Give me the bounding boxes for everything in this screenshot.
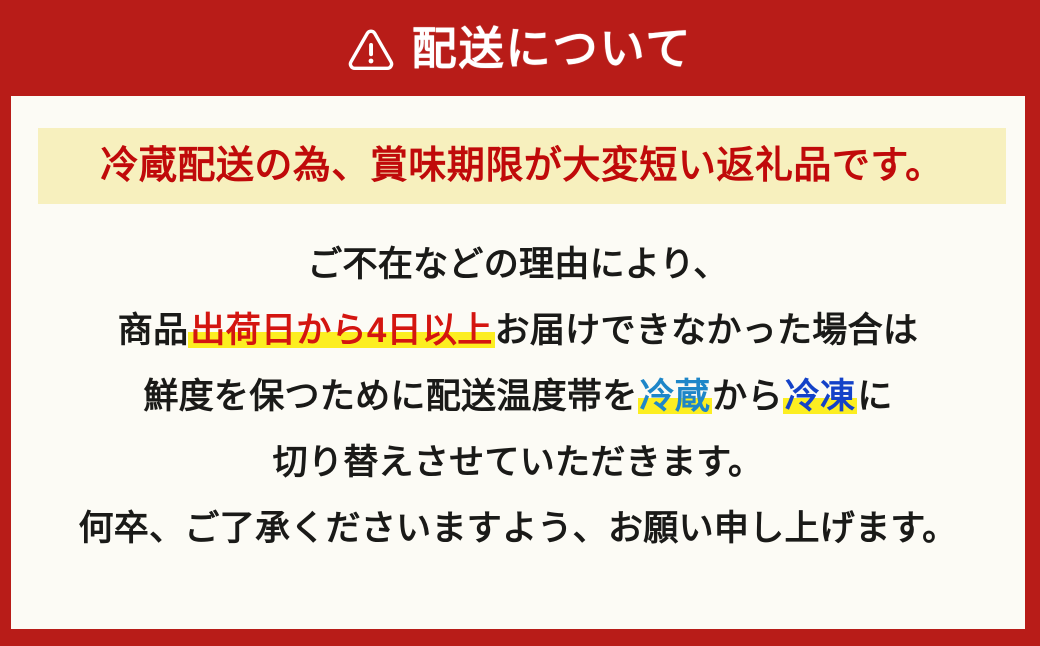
text-segment: お届けできなかった場合は [495, 313, 919, 348]
notice-line: 何卒、ご了承くださいますよう、お願い申し上げます。 [11, 495, 1025, 561]
highlight-banner-text: 冷蔵配送の為、賞味期限が大変短い返礼品です。 [100, 147, 943, 185]
shipping-notice-card: 配送について 冷蔵配送の為、賞味期限が大変短い返礼品です。 ご不在などの理由によ… [0, 0, 1040, 646]
text-segment-emphasis: 出荷日から4日以上 [188, 313, 494, 348]
text-segment: に [857, 379, 892, 414]
page-title: 配送について [412, 26, 693, 71]
warning-triangle-icon [348, 27, 394, 71]
notice-line: 鮮度を保つために配送温度帯を 冷蔵 から 冷凍 に [11, 363, 1025, 429]
text-segment: 何卒、ご了承くださいますよう、お願い申し上げます。 [78, 511, 957, 546]
notice-body-panel: 冷蔵配送の為、賞味期限が大変短い返礼品です。 ご不在などの理由により、 商品 出… [11, 96, 1025, 629]
text-segment: 鮮度を保つために配送温度帯を [143, 379, 637, 414]
highlight-banner: 冷蔵配送の為、賞味期限が大変短い返礼品です。 [38, 128, 1006, 204]
notice-line: 切り替えさせていただきます。 [11, 429, 1025, 495]
notice-header: 配送について [0, 0, 1040, 96]
text-segment: から [712, 379, 783, 414]
text-segment: ご不在などの理由により、 [307, 247, 729, 282]
text-segment-frozen: 冷凍 [783, 379, 858, 414]
text-segment: 切り替えさせていただきます。 [273, 445, 764, 480]
text-segment-chilled: 冷蔵 [638, 379, 713, 414]
notice-line: ご不在などの理由により、 [11, 231, 1025, 297]
notice-paragraph: ご不在などの理由により、 商品 出荷日から4日以上 お届けできなかった場合は 鮮… [11, 231, 1025, 561]
text-segment: 商品 [118, 313, 189, 348]
notice-line: 商品 出荷日から4日以上 お届けできなかった場合は [11, 297, 1025, 363]
